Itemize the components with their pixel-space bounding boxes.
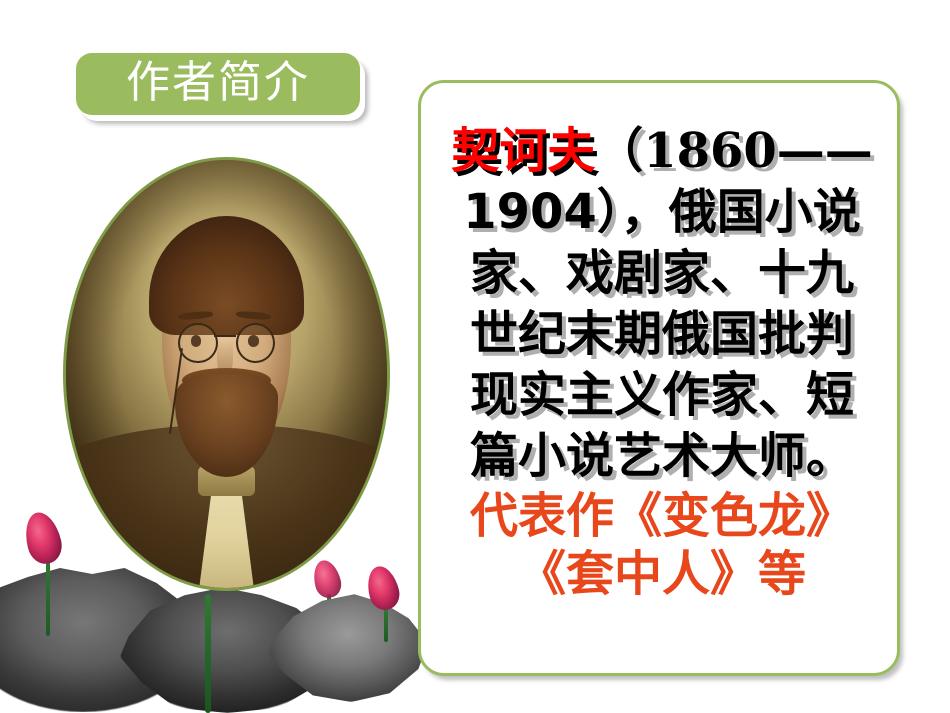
glasses-bridge-icon	[214, 335, 236, 337]
bio-line-1-rest: （1860——	[595, 123, 873, 179]
section-title-tab: 作者简介	[76, 53, 360, 115]
glasses-lens-left-icon	[178, 323, 217, 363]
bio-line-4: 世纪末期俄国批判	[425, 304, 899, 365]
lotus-stem-icon	[46, 558, 50, 636]
portrait-image	[66, 160, 387, 588]
lotus-stem-icon	[384, 606, 388, 642]
lotus-bud-head-icon	[20, 509, 66, 568]
bio-line-6: 篇小说艺术大师。	[425, 426, 899, 487]
bio-text-block: 契诃夫（1860—— 1904），俄国小说 家、戏剧家、十九 世纪末期俄国批判 …	[425, 121, 899, 603]
bio-panel: 契诃夫（1860—— 1904），俄国小说 家、戏剧家、十九 世纪末期俄国批判 …	[418, 80, 900, 676]
bio-line-2: 1904），俄国小说	[425, 182, 899, 243]
bio-line-8-works: 《套中人》等	[425, 545, 899, 603]
author-portrait	[63, 157, 390, 591]
bio-line-7-works: 代表作《变色龙》	[425, 487, 899, 545]
section-title-label: 作者简介	[126, 61, 310, 105]
portrait-hair	[149, 216, 303, 336]
slide-canvas: 作者简介 契诃夫（1860—— 1904），俄国小说 家、戏剧家、十九 世纪末期…	[0, 0, 950, 713]
lotus-stem-icon	[205, 594, 211, 713]
bio-line-1: 契诃夫（1860——	[425, 121, 899, 182]
bio-line-5: 现实主义作家、短	[425, 365, 899, 426]
author-name-highlight: 契诃夫	[451, 123, 595, 179]
bio-line-3: 家、戏剧家、十九	[425, 243, 899, 304]
